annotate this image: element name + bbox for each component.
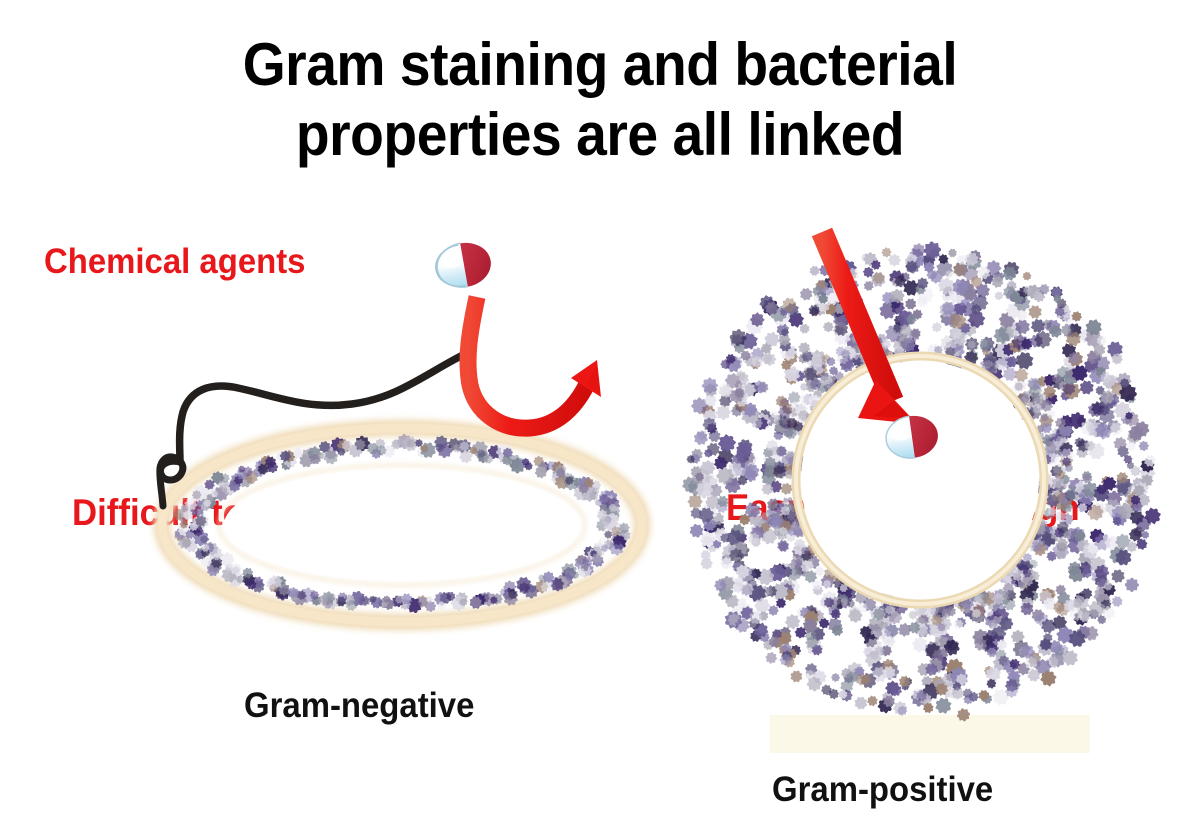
capsule-left-half (883, 416, 915, 461)
straight-down-arrow-icon (822, 232, 917, 424)
black-curved-path-icon (160, 351, 471, 506)
difficult-to-pass-label: Difficult to pass through (72, 492, 474, 534)
capsule-right-half (460, 239, 494, 287)
gram-positive-membrane-highlight (796, 356, 1044, 604)
gram-positive-caption: Gram-positive (772, 770, 993, 810)
cream-band-artifact (770, 715, 1090, 753)
page-title: Gram staining and bacterial properties a… (48, 30, 1152, 170)
capsule-left-half (434, 243, 468, 291)
gram-positive-membrane (796, 356, 1044, 604)
capsule-right-half (909, 413, 941, 458)
curved-bounce-arrow-icon (468, 297, 601, 428)
easy-to-pass-label: Easy to pass through (726, 487, 1080, 529)
capsule-pill-icon-left (432, 239, 494, 292)
gram-positive-cytoplasm (801, 361, 1039, 599)
chemical-agents-label: Chemical agents (44, 242, 305, 282)
diagram-canvas: Gram staining and bacterial properties a… (0, 0, 1200, 836)
gram-negative-caption: Gram-negative (244, 686, 474, 726)
capsule-pill-icon-right (883, 413, 940, 462)
gram-positive-cell (679, 241, 1164, 723)
gram-positive-peptidoglycan (679, 241, 1164, 723)
